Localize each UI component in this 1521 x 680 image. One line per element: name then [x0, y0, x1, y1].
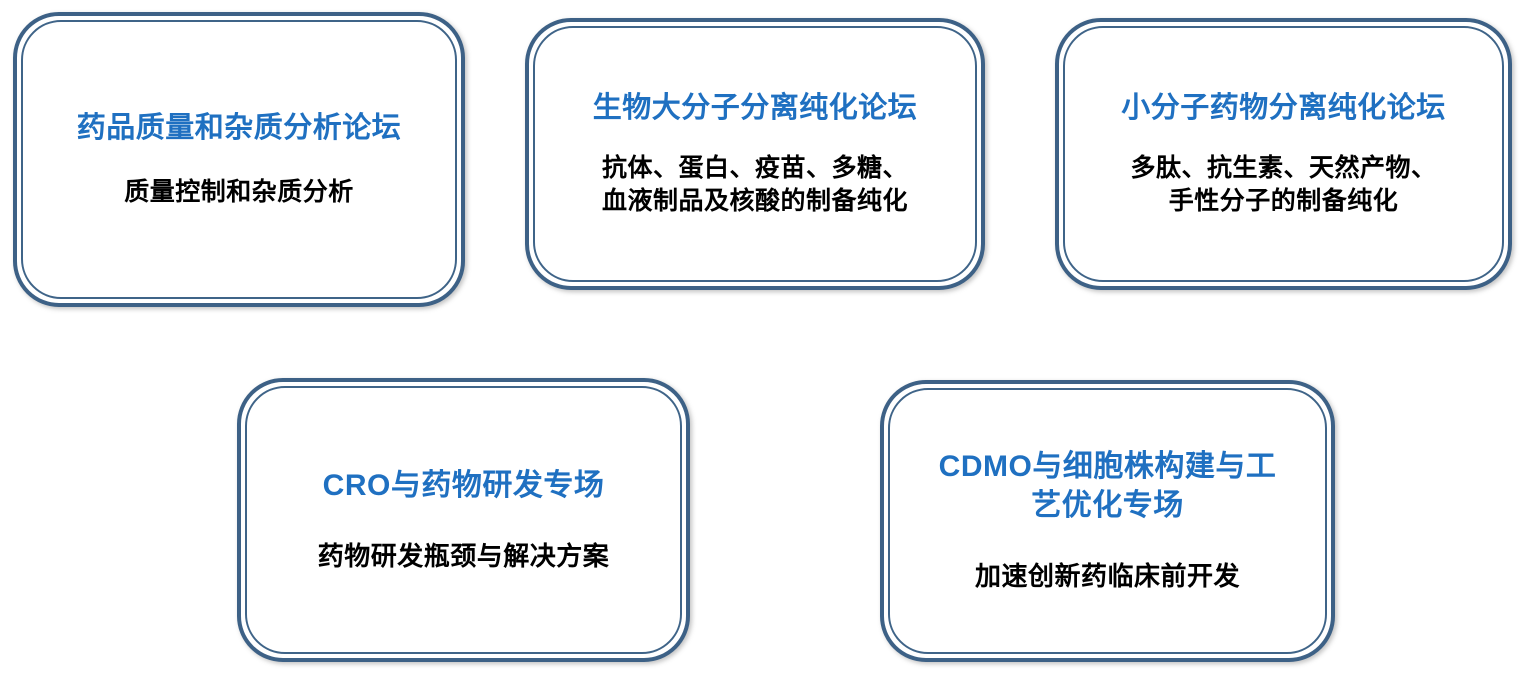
card-subtitle: 抗体、蛋白、疫苗、多糖、 血液制品及核酸的制备纯化 [602, 152, 908, 218]
card-content: 药品质量和杂质分析论坛 质量控制和杂质分析 [17, 16, 461, 303]
card-subtitle: 加速创新药临床前开发 [975, 559, 1240, 593]
card-title: CDMO与细胞株构建与工 艺优化专场 [925, 448, 1291, 525]
card-content: 生物大分子分离纯化论坛 抗体、蛋白、疫苗、多糖、 血液制品及核酸的制备纯化 [529, 22, 981, 286]
forum-tracks-board: 药品质量和杂质分析论坛 质量控制和杂质分析 生物大分子分离纯化论坛 抗体、蛋白、… [0, 0, 1521, 680]
card-subtitle: 药物研发瓶颈与解决方案 [318, 539, 610, 573]
card-subtitle: 质量控制和杂质分析 [124, 176, 354, 209]
card-title: 药品质量和杂质分析论坛 [77, 110, 402, 147]
card-cdmo-cellline-process-session[interactable]: CDMO与细胞株构建与工 艺优化专场 加速创新药临床前开发 [880, 380, 1335, 662]
card-small-molecule-purification-forum[interactable]: 小分子药物分离纯化论坛 多肽、抗生素、天然产物、 手性分子的制备纯化 [1055, 18, 1512, 290]
card-title: 小分子药物分离纯化论坛 [1121, 90, 1446, 127]
card-title: 生物大分子分离纯化论坛 [593, 90, 918, 127]
card-subtitle: 多肽、抗生素、天然产物、 手性分子的制备纯化 [1130, 152, 1436, 218]
card-title: CRO与药物研发专场 [323, 467, 605, 505]
card-cro-drug-rnd-session[interactable]: CRO与药物研发专场 药物研发瓶颈与解决方案 [237, 378, 690, 662]
card-content: 小分子药物分离纯化论坛 多肽、抗生素、天然产物、 手性分子的制备纯化 [1059, 22, 1508, 286]
card-biomacromolecule-purification-forum[interactable]: 生物大分子分离纯化论坛 抗体、蛋白、疫苗、多糖、 血液制品及核酸的制备纯化 [525, 18, 985, 290]
card-content: CDMO与细胞株构建与工 艺优化专场 加速创新药临床前开发 [884, 384, 1331, 658]
card-quality-and-impurity-forum[interactable]: 药品质量和杂质分析论坛 质量控制和杂质分析 [13, 12, 465, 307]
card-content: CRO与药物研发专场 药物研发瓶颈与解决方案 [241, 382, 686, 658]
